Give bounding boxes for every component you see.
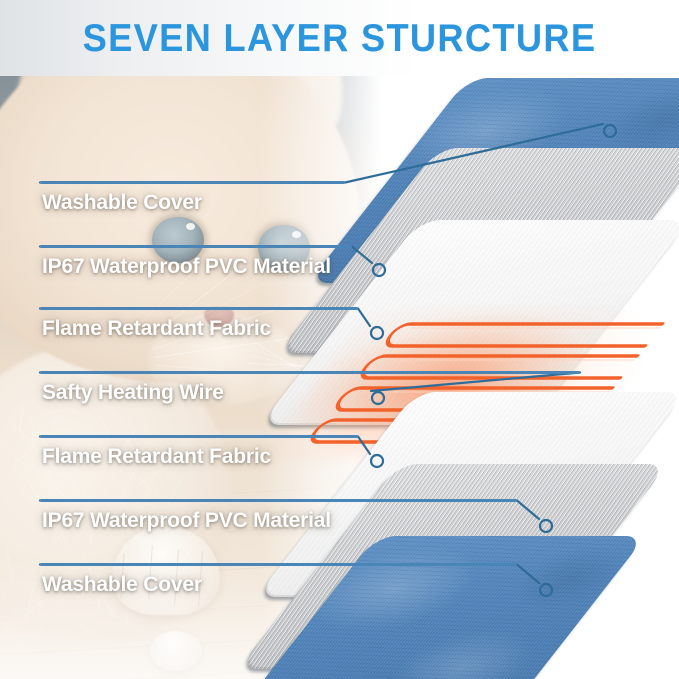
page-title: SEVEN LAYER STURCTURE — [24, 18, 655, 60]
title-bar: SEVEN LAYER STURCTURE — [0, 0, 679, 76]
layer-stack-diagram — [318, 78, 679, 638]
infographic-canvas: Washable CoverIP67 Waterproof PVC Materi… — [0, 0, 679, 679]
